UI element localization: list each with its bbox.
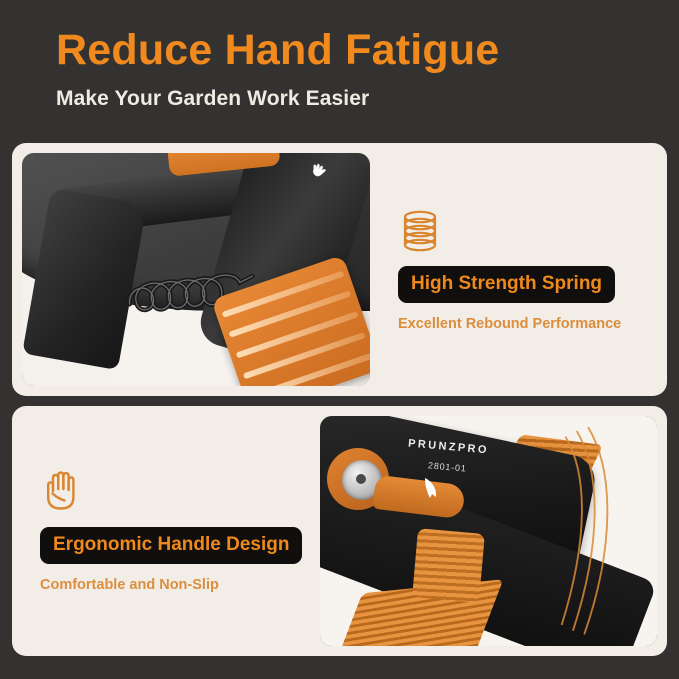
motion-lines	[556, 425, 650, 637]
feature-card-handle: PRUNZPRO 2801-01 Ergonomic Handle Design…	[12, 406, 667, 656]
photo-pruning-shears-handle: PRUNZPRO 2801-01	[320, 416, 657, 646]
page-title: Reduce Hand Fatigue	[56, 28, 679, 73]
white-glove-icon	[310, 162, 332, 182]
feature-badge-handle: Ergonomic Handle Design	[40, 527, 302, 564]
header: Reduce Hand Fatigue Make Your Garden Wor…	[0, 0, 679, 111]
feature-caption-spring: Excellent Rebound Performance	[398, 316, 621, 332]
coil-spring-icon	[398, 208, 442, 254]
feature-caption-handle: Comfortable and Non-Slip	[40, 577, 219, 593]
center-grip-pad	[412, 528, 485, 603]
white-spark-icon	[421, 476, 447, 502]
feature-badge-spring: High Strength Spring	[398, 266, 615, 303]
feature-info-handle: Ergonomic Handle Design Comfortable and …	[12, 406, 320, 656]
photo-pruner-spring-closeup	[22, 153, 370, 386]
page-subtitle: Make Your Garden Work Easier	[56, 87, 679, 111]
product-infographic: Reduce Hand Fatigue Make Your Garden Wor…	[0, 0, 679, 679]
feature-card-spring: High Strength Spring Excellent Rebound P…	[12, 143, 667, 396]
feature-info-spring: High Strength Spring Excellent Rebound P…	[370, 143, 667, 396]
open-hand-icon	[40, 469, 84, 515]
